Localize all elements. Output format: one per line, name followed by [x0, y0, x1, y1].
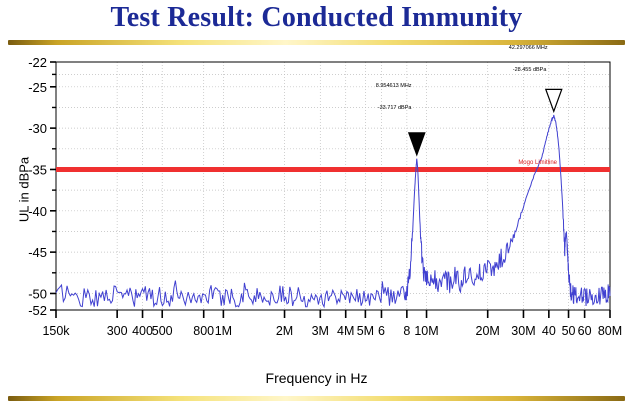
accent-rule-bottom	[8, 396, 625, 401]
spectrum-plot: -22-25-30-35-40-45-50-52 150k30040050080…	[0, 52, 633, 392]
svg-text:2M: 2M	[276, 324, 293, 338]
x-axis-tick-labels: 150k3004005008001M2M3M4M5M6810M20M30M405…	[42, 324, 622, 338]
x-axis-ticks	[56, 310, 610, 318]
svg-text:-50: -50	[28, 286, 47, 301]
svg-text:150k: 150k	[42, 324, 70, 338]
svg-text:400: 400	[132, 324, 153, 338]
marker-2-amplitude-label: -28.455 dBPa	[513, 67, 547, 73]
chart-container: -22-25-30-35-40-45-50-52 150k30040050080…	[0, 52, 633, 392]
svg-text:1M: 1M	[215, 324, 232, 338]
svg-text:80M: 80M	[598, 324, 622, 338]
svg-text:6: 6	[378, 324, 385, 338]
limit-line-label: Mogo Limitline	[518, 160, 557, 166]
svg-text:10M: 10M	[414, 324, 438, 338]
svg-text:800: 800	[193, 324, 214, 338]
svg-text:300: 300	[107, 324, 128, 338]
accent-rule-top	[8, 40, 625, 45]
svg-text:-25: -25	[28, 80, 47, 95]
marker-1-frequency-label: 8.954613 MHz	[376, 83, 412, 89]
marker-2-frequency-label: 42.297066 MHz	[509, 45, 548, 51]
svg-text:500: 500	[152, 324, 173, 338]
y-axis-ticks	[50, 62, 56, 310]
svg-text:5M: 5M	[357, 324, 374, 338]
svg-text:8: 8	[403, 324, 410, 338]
marker-2-triangle-icon	[546, 89, 562, 111]
svg-text:60: 60	[578, 324, 592, 338]
svg-text:30M: 30M	[511, 324, 535, 338]
marker-1-triangle-icon	[409, 133, 425, 155]
marker-group	[409, 89, 562, 154]
svg-text:-52: -52	[28, 303, 47, 318]
svg-text:4M: 4M	[337, 324, 354, 338]
slide-canvas: Test Result: Conducted Immunity -22-25-3…	[0, 0, 633, 409]
svg-text:-22: -22	[28, 55, 47, 70]
x-axis-title: Frequency in Hz	[0, 370, 633, 386]
svg-text:3M: 3M	[312, 324, 329, 338]
y-axis-title: UL in dBPa	[17, 130, 32, 250]
plot-gridlines	[56, 62, 610, 310]
svg-text:40: 40	[542, 324, 556, 338]
page-title: Test Result: Conducted Immunity	[0, 2, 633, 34]
svg-text:20M: 20M	[476, 324, 500, 338]
marker-1-amplitude-label: -33.717 dBPa	[378, 105, 412, 111]
svg-text:50: 50	[562, 324, 576, 338]
